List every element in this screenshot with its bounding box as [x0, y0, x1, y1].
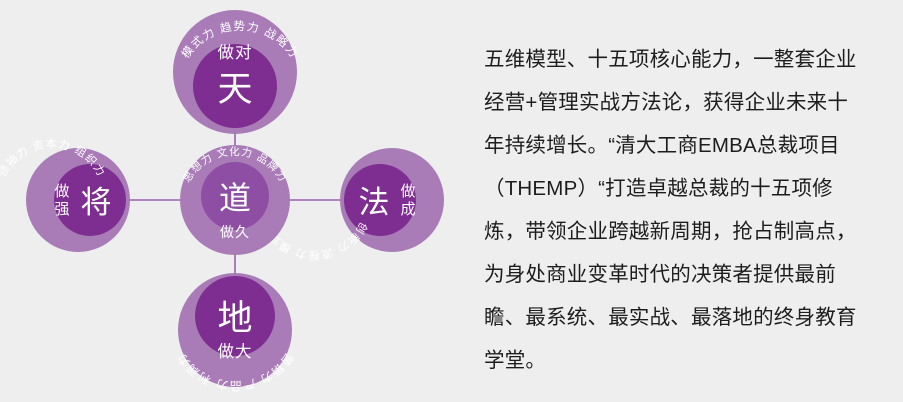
- node-tian-core-label: 天: [217, 70, 252, 109]
- node-dao-core-label: 道: [219, 180, 251, 216]
- infographic-page: 模式力 趋势力 战略力 做对 天 领袖力 资本力 组织力 做 强 将: [0, 0, 903, 402]
- copy-line: （THEMP）“打造卓越总裁的十五项修: [484, 167, 864, 210]
- node-di-action: 做大: [218, 342, 253, 361]
- node-di-core-label: 地: [217, 299, 252, 338]
- five-dimension-diagram: 模式力 趋势力 战略力 做对 天 领袖力 资本力 组织力 做 强 将: [0, 0, 470, 402]
- node-fa-core-label: 法: [359, 185, 390, 220]
- copy-line: 瞻、最系统、最实战、最落地的终身教育: [484, 296, 864, 339]
- node-jiang[interactable]: 领袖力 资本力 组织力 做 强 将: [0, 136, 130, 252]
- copy-line: 五维模型、十五项核心能力，一整套企业: [484, 38, 864, 81]
- node-jiang-action-line2: 强: [54, 201, 69, 218]
- node-dao-action: 做久: [220, 224, 250, 240]
- node-tian-action: 做对: [218, 43, 253, 62]
- node-fa-action-line1: 做: [400, 183, 415, 200]
- copy-line: 炼，带领企业跨越新周期，抢占制高点，: [484, 210, 864, 253]
- copy-line: 年持续增长。“清大工商EMBA总裁项目: [484, 124, 864, 167]
- diagram-canvas: 模式力 趋势力 战略力 做对 天 领袖力 资本力 组织力 做 强 将: [0, 0, 470, 402]
- node-dao-center[interactable]: 思想力 文化力 品牌力 道 做久: [180, 145, 290, 255]
- node-jiang-core-label: 将: [81, 185, 112, 220]
- copy-line: 为身处商业变革时代的决策者提供最前: [484, 253, 864, 296]
- description-paragraph: 五维模型、十五项核心能力，一整套企业 经营+管理实战方法论，获得企业未来十 年持…: [484, 38, 864, 382]
- copy-line: 经营+管理实战方法论，获得企业未来十: [484, 81, 864, 124]
- node-di[interactable]: 营销力 产品力 利润力 地 做大: [175, 273, 296, 393]
- node-jiang-action-line1: 做: [54, 183, 69, 200]
- node-tian[interactable]: 模式力 趋势力 战略力 做对 天: [173, 10, 301, 134]
- copy-line: 学堂。: [484, 339, 864, 382]
- node-fa-action-line2: 成: [400, 201, 415, 218]
